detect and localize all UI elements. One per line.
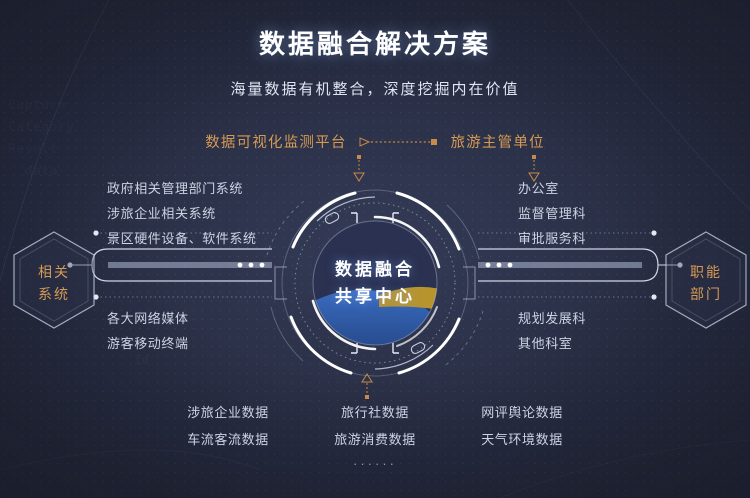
up-arrow-marker-icon xyxy=(360,372,374,400)
badge-right-line1: 职能 xyxy=(690,261,722,283)
list-item: 监督管理科 xyxy=(518,201,586,226)
list-item: 审批服务科 xyxy=(518,226,586,251)
page-title: 数据融合解决方案 xyxy=(0,24,750,61)
grid-cell: 车流客流数据 xyxy=(176,429,281,448)
label-visualization-platform: 数据可视化监测平台 xyxy=(205,131,346,152)
left-column-top: 政府相关管理部门系统 涉旅企业相关系统 景区硬件设备、软件系统 xyxy=(107,176,257,251)
badge-right-line2: 部门 xyxy=(690,283,722,305)
list-item: 景区硬件设备、软件系统 xyxy=(107,226,257,251)
badge-left-line2: 系统 xyxy=(38,283,70,305)
list-item: 游客移动终端 xyxy=(107,331,189,356)
header: 数据融合解决方案 海量数据有机整合，深度挖掘内在价值 xyxy=(0,24,750,99)
dotted-left-arrow-icon xyxy=(358,136,440,148)
right-column-top: 办公室 监督管理科 审批服务科 xyxy=(518,176,586,251)
left-column-bottom: 各大网络媒体 游客移动终端 xyxy=(107,306,189,356)
hub-rings-icon xyxy=(247,155,503,411)
badge-functional-departments[interactable]: 职能 部门 xyxy=(660,228,750,337)
grid-cell: 天气环境数据 xyxy=(470,429,575,448)
right-column-bottom: 规划发展科 其他科室 xyxy=(518,306,586,356)
grid-ellipsis: ······ xyxy=(0,456,750,471)
top-label-row: 数据可视化监测平台 旅游主管单位 xyxy=(0,131,750,152)
badge-related-systems[interactable]: 相关 系统 xyxy=(8,228,100,337)
page-subtitle: 海量数据有机整合，深度挖掘内在价值 xyxy=(0,78,750,99)
bottom-row-1: 涉旅企业数据 旅行社数据 网评舆论数据 xyxy=(0,402,750,421)
list-item: 涉旅企业相关系统 xyxy=(107,201,257,226)
grid-cell: 旅行社数据 xyxy=(323,402,428,421)
badge-right-label: 职能 部门 xyxy=(660,228,750,337)
bottom-row-2: 车流客流数据 旅游消费数据 天气环境数据 xyxy=(0,429,750,448)
label-tourism-authority: 旅游主管单位 xyxy=(451,131,545,152)
list-item: 规划发展科 xyxy=(518,306,586,331)
list-item: 各大网络媒体 xyxy=(107,306,189,331)
badge-left-line1: 相关 xyxy=(38,261,70,283)
grid-cell: 网评舆论数据 xyxy=(470,402,575,421)
grid-cell: 涉旅企业数据 xyxy=(176,402,281,421)
down-arrow-marker-right-icon xyxy=(527,155,541,183)
bottom-data-grid: 涉旅企业数据 旅行社数据 网评舆论数据 车流客流数据 旅游消费数据 天气环境数据… xyxy=(0,402,750,471)
list-item: 其他科室 xyxy=(518,331,586,356)
badge-left-label: 相关 系统 xyxy=(8,228,100,337)
central-hub[interactable]: 数据融合 共享中心 xyxy=(247,155,503,411)
down-arrow-marker-left-icon xyxy=(352,155,366,183)
list-item: 政府相关管理部门系统 xyxy=(107,176,257,201)
grid-cell: 旅游消费数据 xyxy=(323,429,428,448)
